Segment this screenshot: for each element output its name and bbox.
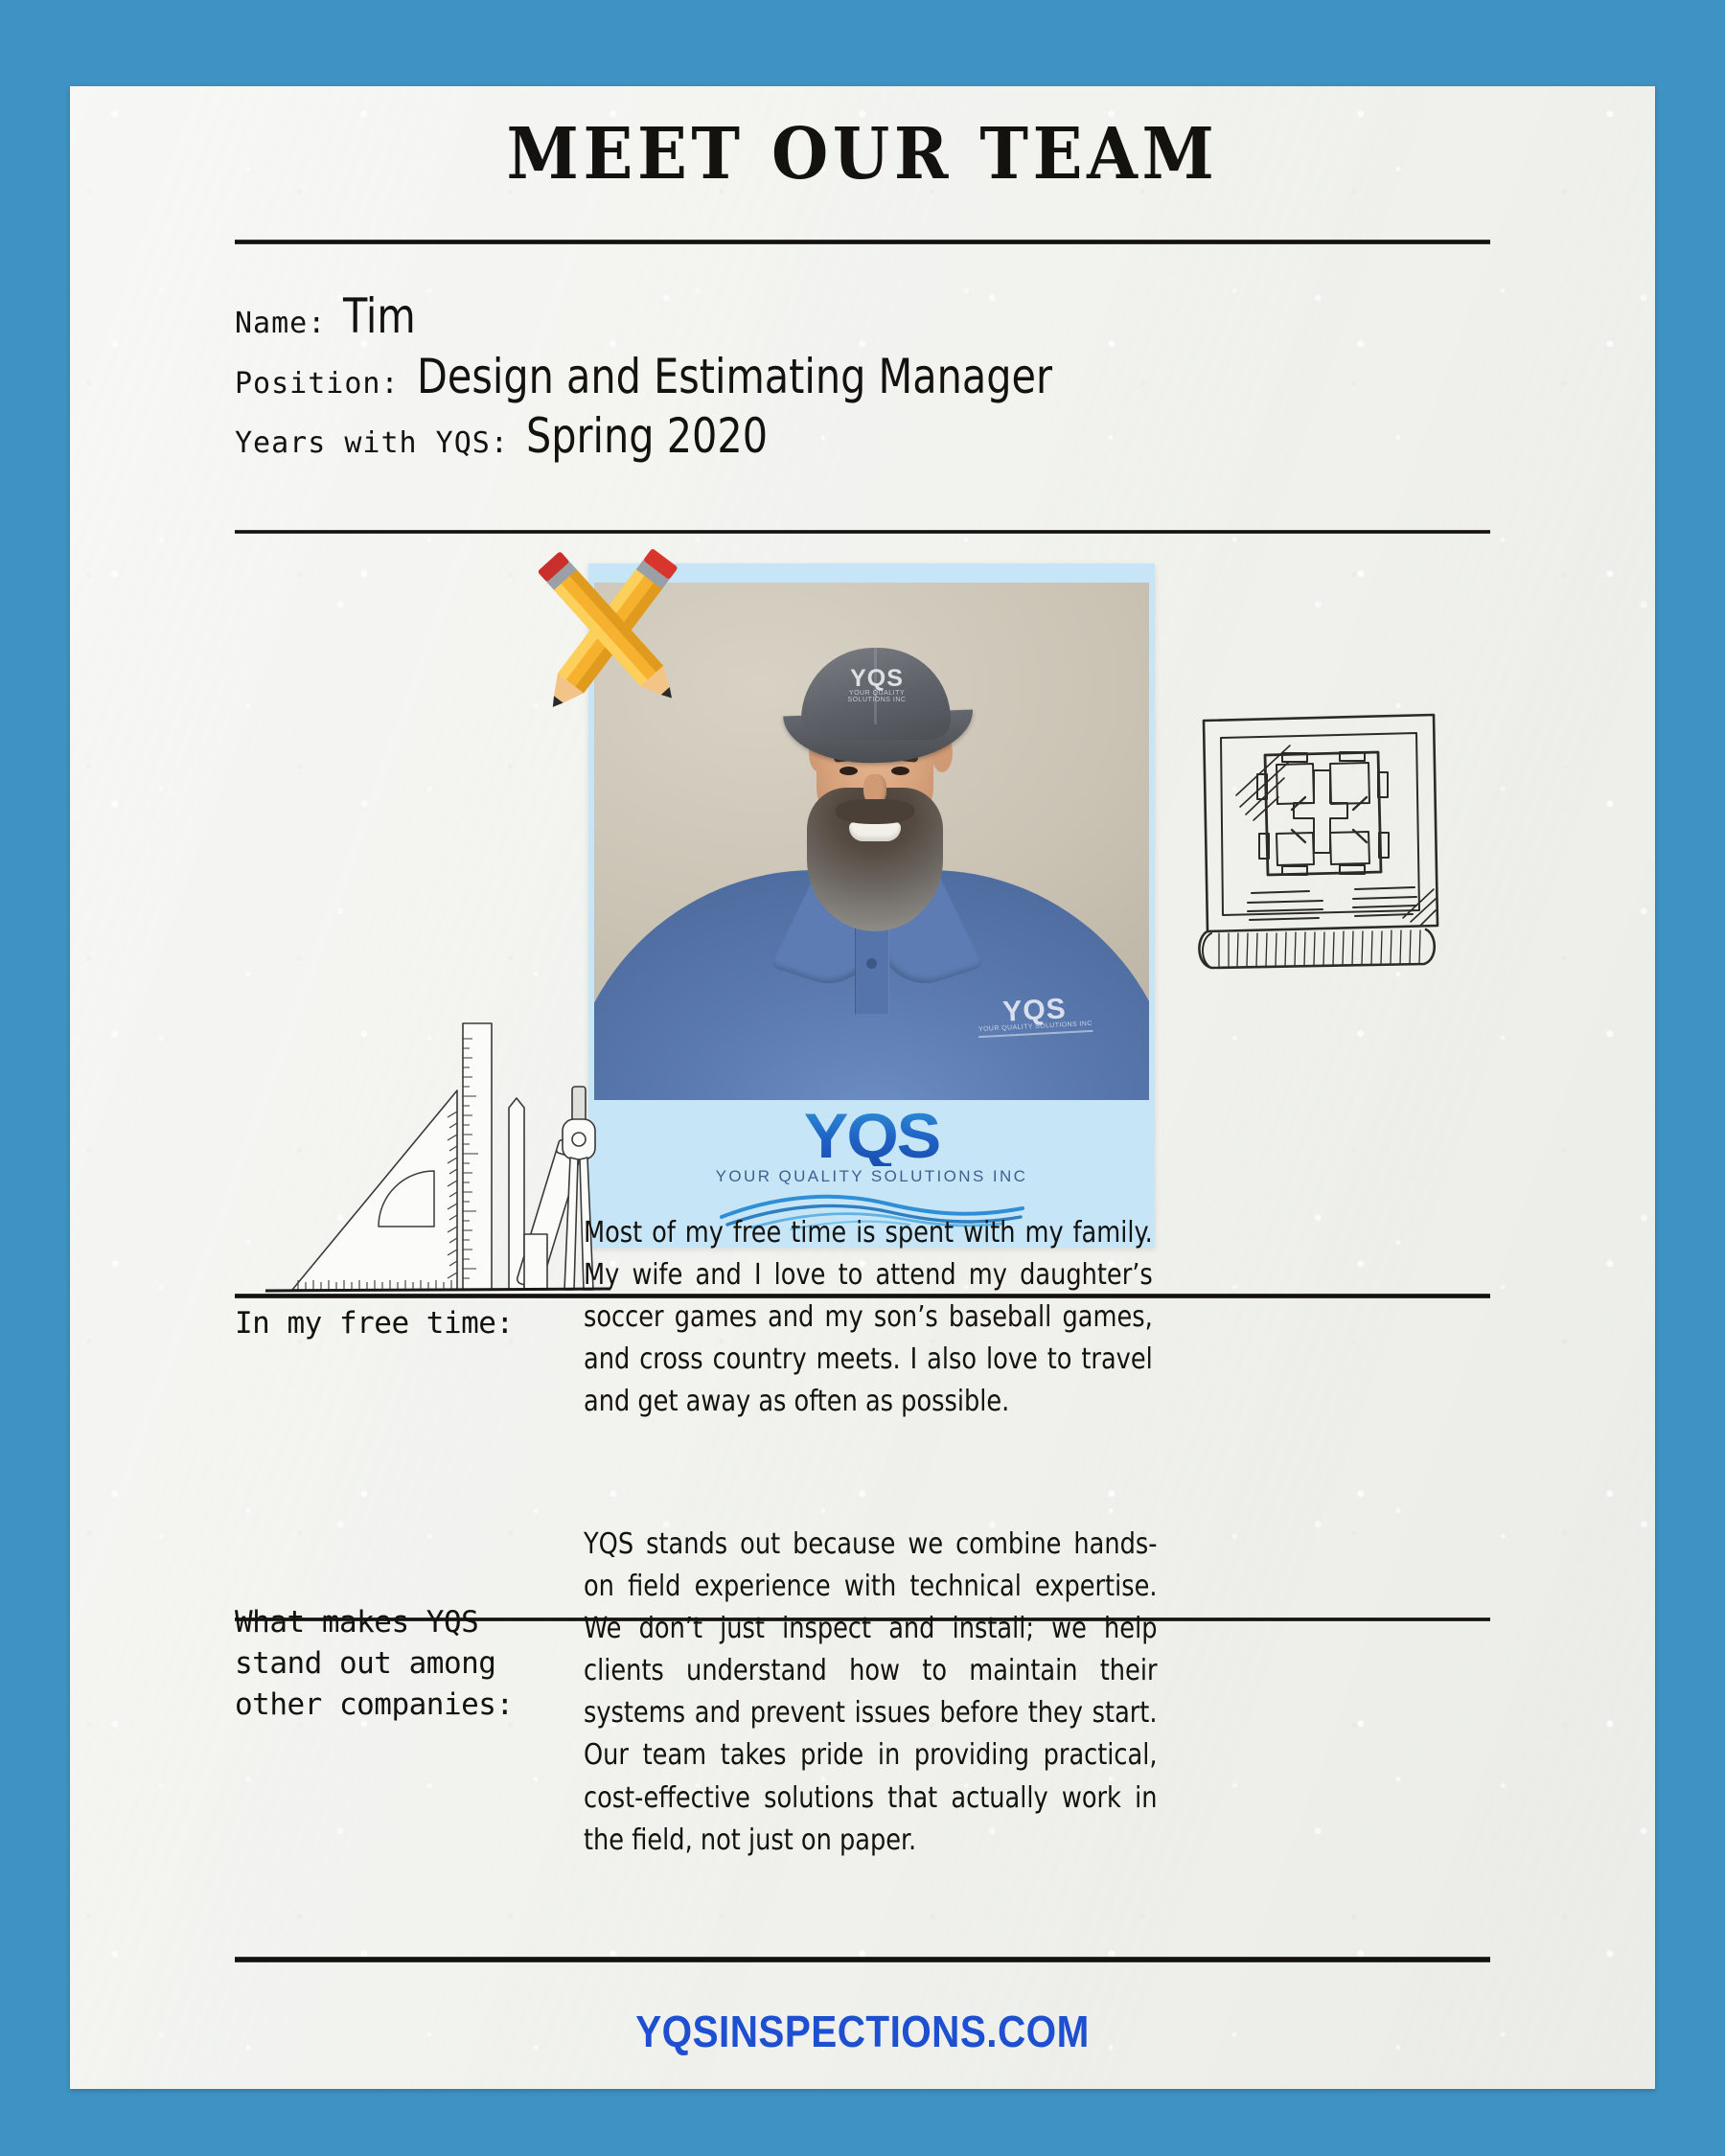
page-title: MEET OUR TEAM <box>133 113 1592 195</box>
poster-paper: MEET OUR TEAM Name: Tim Position: Design… <box>70 86 1655 2089</box>
eye-left <box>839 767 858 775</box>
drafting-tools-icon <box>265 1006 610 1296</box>
moustache <box>836 799 914 824</box>
meta-label-years: Years with YQS: <box>235 426 509 460</box>
divider-under-title <box>235 240 1490 244</box>
meta-value-position: Design and Estimating Manager <box>417 353 1052 401</box>
qa-label-stand-out: What makes YQS stand out among other com… <box>235 1602 532 1725</box>
yqs-logo-mark: YQS <box>571 1106 1171 1166</box>
meta-label-name: Name: <box>235 307 326 340</box>
blueprint-roll-icon <box>1186 690 1455 977</box>
qa-text-stand-out: YQS stands out because we combine hands-… <box>584 1524 1158 1862</box>
eye-right <box>891 767 909 775</box>
qa-text-free-time: Most of my free time is spent with my fa… <box>584 1212 1153 1423</box>
shirt-logo: YQS YOUR QUALITY SOLUTIONS INC <box>977 992 1094 1047</box>
website-link[interactable]: YQSINSPECTIONS.COM <box>165 2006 1560 2057</box>
meta-row-2: Years with YQS: Spring 2020 <box>235 412 789 460</box>
mouth <box>849 822 901 841</box>
meta-row-0: Name: Tim <box>235 292 423 340</box>
meta-value-name: Tim <box>343 292 416 340</box>
divider-under-meta <box>235 530 1490 534</box>
meta-value-years: Spring 2020 <box>526 412 768 460</box>
shirt-button-bottom <box>866 958 877 969</box>
crossed-pencils-icon <box>520 537 702 728</box>
poster-background: MEET OUR TEAM Name: Tim Position: Design… <box>0 0 1725 2156</box>
cap-logo-mark: YQS <box>850 665 904 692</box>
qa-label-free-time: In my free time: <box>235 1303 522 1344</box>
cap-logo: YQS YOUR QUALITY SOLUTIONS INC <box>836 665 918 698</box>
cap-logo-tagline: YOUR QUALITY SOLUTIONS INC <box>836 690 918 703</box>
divider-above-footer <box>235 1957 1490 1962</box>
meta-row-1: Position: Design and Estimating Manager <box>235 353 1107 401</box>
meta-label-position: Position: <box>235 367 400 401</box>
